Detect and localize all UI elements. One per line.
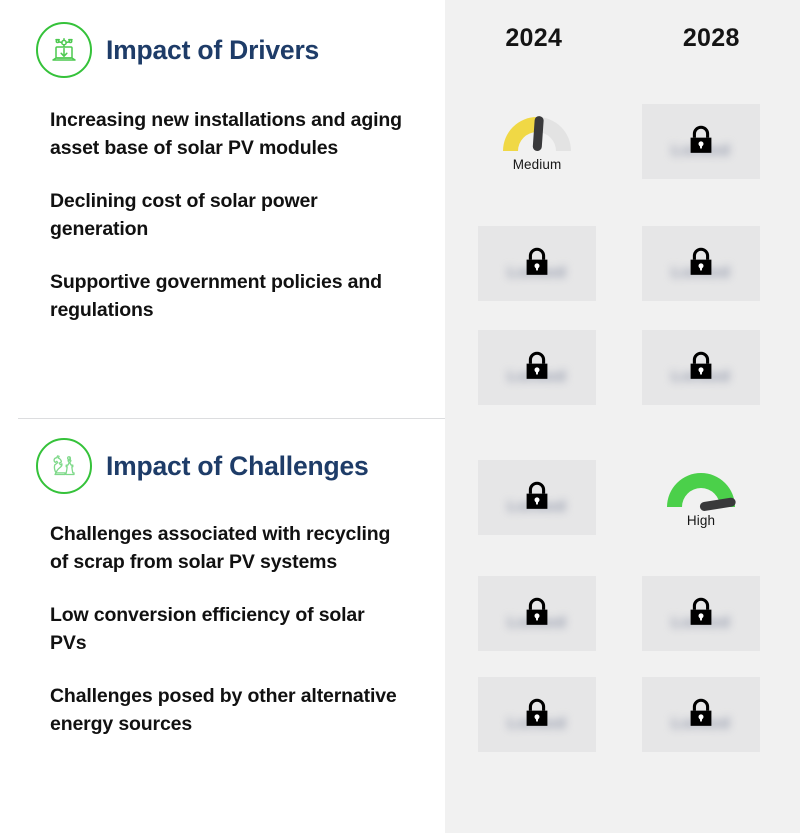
list-item: Challenges associated with recycling of … — [50, 520, 405, 576]
lock-icon — [686, 123, 716, 157]
section-challenges: Impact of Challenges Challenges associat… — [0, 419, 445, 833]
lock-icon — [686, 696, 716, 730]
gauge-medium: Medium — [478, 107, 596, 193]
list-item: Supportive government policies and regul… — [50, 268, 405, 324]
gauge-arc-icon — [662, 463, 740, 511]
rating-cell-challenges-3-2024[interactable]: Locked — [478, 677, 596, 752]
lock-icon — [686, 245, 716, 279]
rating-cell-challenges-3-2028[interactable]: Locked — [642, 677, 760, 752]
locked-placeholder[interactable]: Locked — [478, 677, 596, 752]
rating-cell-drivers-3-2028[interactable]: Locked — [642, 330, 760, 405]
locked-placeholder[interactable]: Locked — [642, 576, 760, 651]
locked-placeholder[interactable]: Locked — [478, 226, 596, 301]
list-item: Challenges posed by other alternative en… — [50, 682, 405, 738]
gauge-level-label: High — [687, 513, 715, 528]
lock-icon — [686, 349, 716, 383]
list-item: Low conversion efficiency of solar PVs — [50, 601, 405, 657]
drivers-header: Impact of Drivers — [0, 0, 445, 78]
ratings-panel: 2024 2028 Medium — [445, 0, 800, 833]
challenges-bullet-list: Challenges associated with recycling of … — [0, 494, 445, 738]
locked-placeholder[interactable]: Locked — [642, 677, 760, 752]
gauge-level-label: Medium — [513, 157, 562, 172]
impact-matrix: Impact of Drivers Increasing new install… — [0, 0, 800, 833]
lock-icon — [522, 595, 552, 629]
locked-placeholder[interactable]: Locked — [642, 104, 760, 179]
lock-icon — [522, 349, 552, 383]
rating-cell-drivers-3-2024[interactable]: Locked — [478, 330, 596, 405]
rating-cell-challenges-1-2028[interactable]: High — [642, 460, 760, 552]
asset-deployment-icon — [36, 22, 92, 78]
rating-cell-challenges-1-2024[interactable]: Locked — [478, 460, 596, 535]
rating-cell-challenges-2-2028[interactable]: Locked — [642, 576, 760, 651]
lock-icon — [522, 479, 552, 513]
section-drivers: Impact of Drivers Increasing new install… — [0, 0, 445, 418]
ratings-grid: Medium Locked Locked — [445, 0, 800, 833]
chess-pieces-icon — [36, 438, 92, 494]
lock-icon — [522, 696, 552, 730]
locked-placeholder[interactable]: Locked — [478, 576, 596, 651]
lock-icon — [522, 245, 552, 279]
locked-placeholder[interactable]: Locked — [642, 330, 760, 405]
gauge-arc-icon — [498, 107, 576, 155]
lock-icon — [686, 595, 716, 629]
rating-cell-drivers-2-2028[interactable]: Locked — [642, 226, 760, 301]
rating-cell-drivers-1-2028[interactable]: Locked — [642, 104, 760, 179]
drivers-bullet-list: Increasing new installations and aging a… — [0, 78, 445, 324]
text-column: Impact of Drivers Increasing new install… — [0, 0, 445, 833]
list-item: Declining cost of solar power generation — [50, 187, 405, 243]
rating-cell-challenges-2-2024[interactable]: Locked — [478, 576, 596, 651]
challenges-header: Impact of Challenges — [0, 419, 445, 494]
locked-placeholder[interactable]: Locked — [478, 460, 596, 535]
drivers-title: Impact of Drivers — [106, 35, 319, 66]
rating-cell-drivers-2-2024[interactable]: Locked — [478, 226, 596, 301]
list-item: Increasing new installations and aging a… — [50, 106, 405, 162]
rating-cell-drivers-1-2024[interactable]: Medium — [478, 104, 596, 196]
locked-placeholder[interactable]: Locked — [478, 330, 596, 405]
locked-placeholder[interactable]: Locked — [642, 226, 760, 301]
gauge-high: High — [642, 463, 760, 549]
challenges-title: Impact of Challenges — [106, 451, 369, 482]
